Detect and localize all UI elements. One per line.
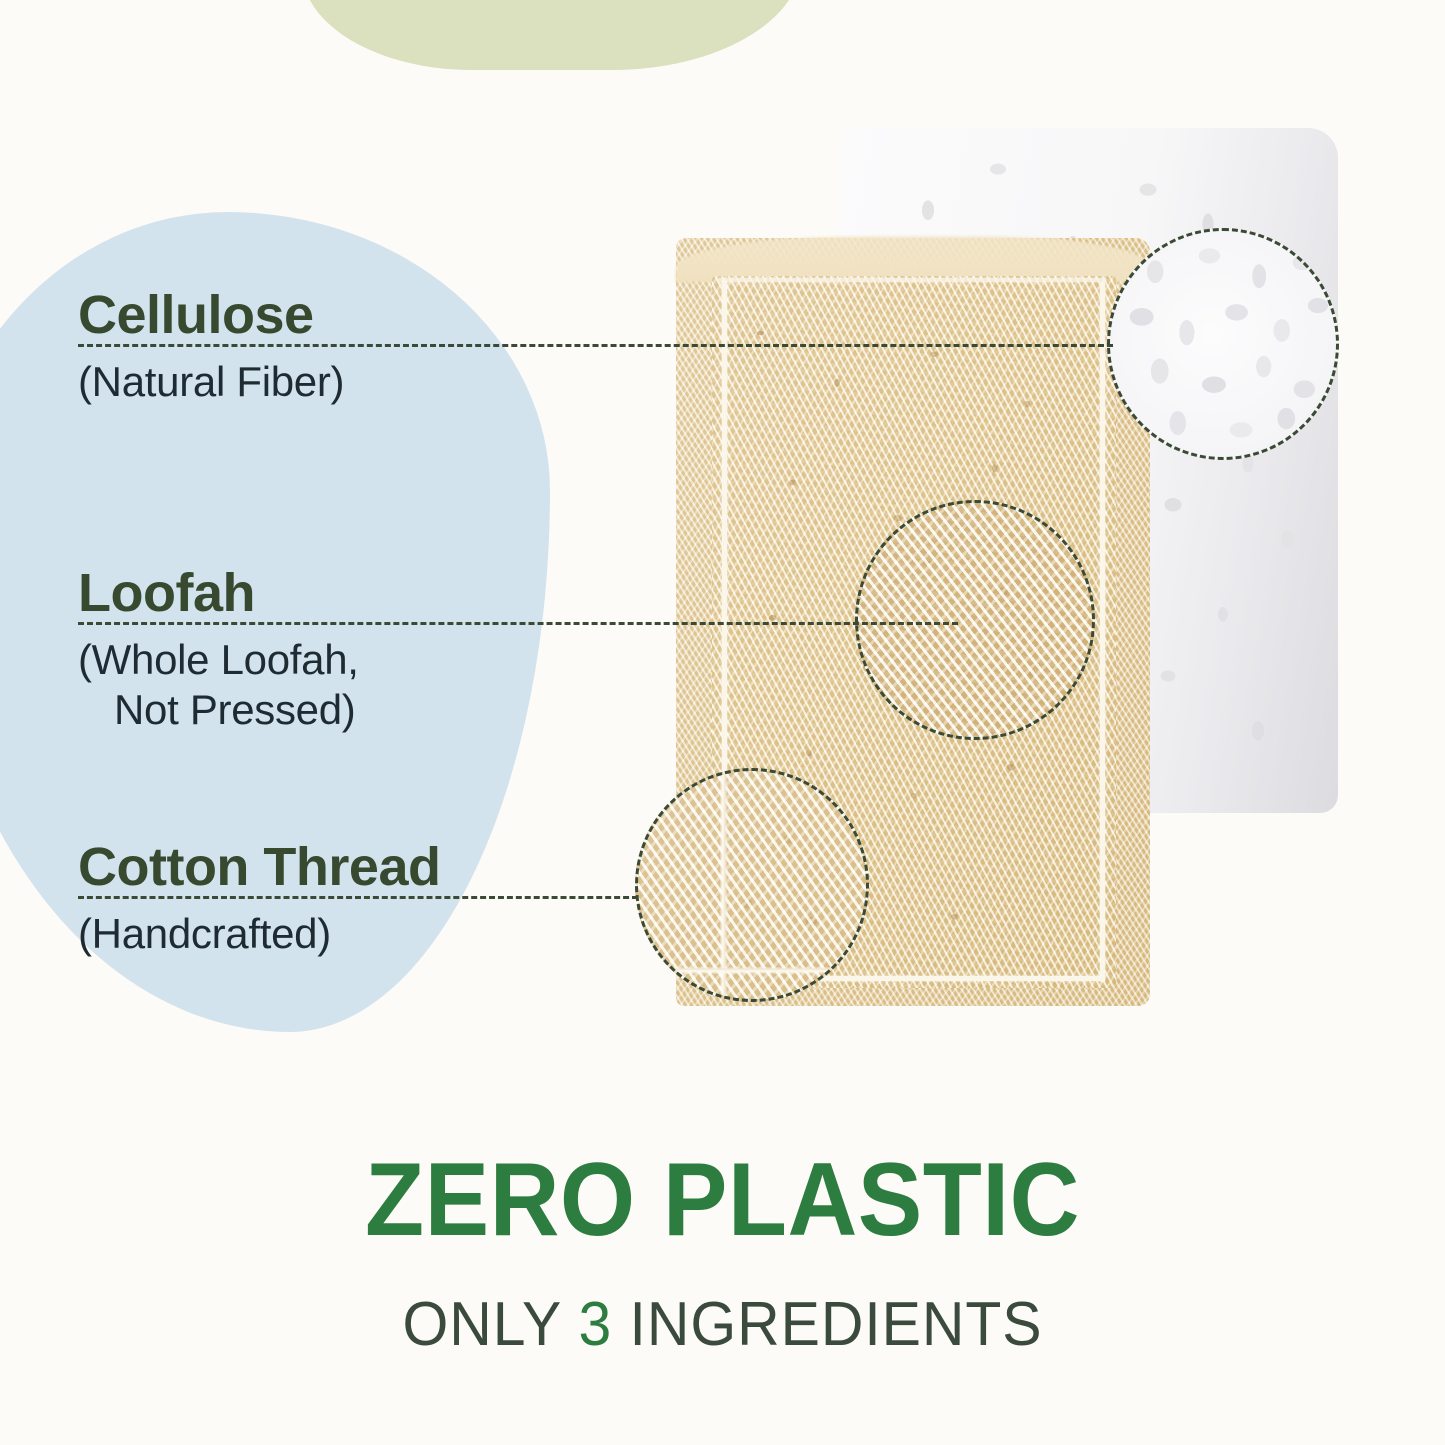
cellulose-sponge-side — [1253, 150, 1338, 805]
cotton-thread-horizontal — [638, 967, 869, 974]
infographic-canvas: Cellulose (Natural Fiber) Loofah (Whole … — [0, 0, 1445, 1445]
cotton-stitch-top — [718, 278, 1106, 282]
headline-sub-after: INGREDIENTS — [612, 1290, 1042, 1359]
headline-block: ZERO PLASTIC ONLY 3 INGREDIENTS — [0, 1146, 1445, 1360]
ingredient-subtitle-loofah: (Whole Loofah, Not Pressed) — [78, 635, 359, 734]
ingredient-label-loofah: Loofah (Whole Loofah, Not Pressed) — [78, 566, 359, 734]
loofah-fuzzy-edge — [676, 236, 1150, 282]
ingredient-subtitle-line1-loofah: (Whole Loofah, — [78, 636, 359, 683]
ingredient-subtitle-line1-cotton-thread: (Handcrafted) — [78, 910, 331, 957]
ingredient-subtitle-line1-cellulose: (Natural Fiber) — [78, 358, 344, 405]
cotton-stitch-bottom — [720, 976, 1104, 981]
ingredient-title-loofah: Loofah — [78, 566, 359, 621]
cotton-thread-detail-circle — [635, 768, 869, 1002]
sage-blob-decoration — [302, 0, 802, 70]
headline-zero-plastic: ZERO PLASTIC — [51, 1146, 1395, 1255]
cellulose-detail-circle — [1107, 228, 1339, 460]
ingredient-label-cotton-thread: Cotton Thread (Handcrafted) — [78, 840, 440, 959]
ingredient-subtitle-cellulose: (Natural Fiber) — [78, 357, 344, 407]
headline-sub-number: 3 — [579, 1290, 613, 1359]
ingredient-label-cellulose: Cellulose (Natural Fiber) — [78, 288, 344, 407]
headline-sub-before: ONLY — [402, 1290, 578, 1359]
loofah-detail-circle — [855, 500, 1095, 740]
cellulose-sponge — [838, 128, 1338, 813]
ingredient-title-cotton-thread: Cotton Thread — [78, 840, 440, 895]
cotton-stitch-left — [722, 280, 727, 984]
ingredient-subtitle-cotton-thread: (Handcrafted) — [78, 909, 440, 959]
loofah-scrub-pad — [712, 276, 1116, 988]
cotton-stitch-right — [1100, 282, 1105, 982]
ingredient-subtitle-line2-loofah: Not Pressed) — [78, 685, 359, 735]
ingredient-title-cellulose: Cellulose — [78, 288, 344, 343]
cotton-thread-vertical — [720, 771, 727, 1002]
headline-only-3-ingredients: ONLY 3 INGREDIENTS — [36, 1289, 1409, 1360]
